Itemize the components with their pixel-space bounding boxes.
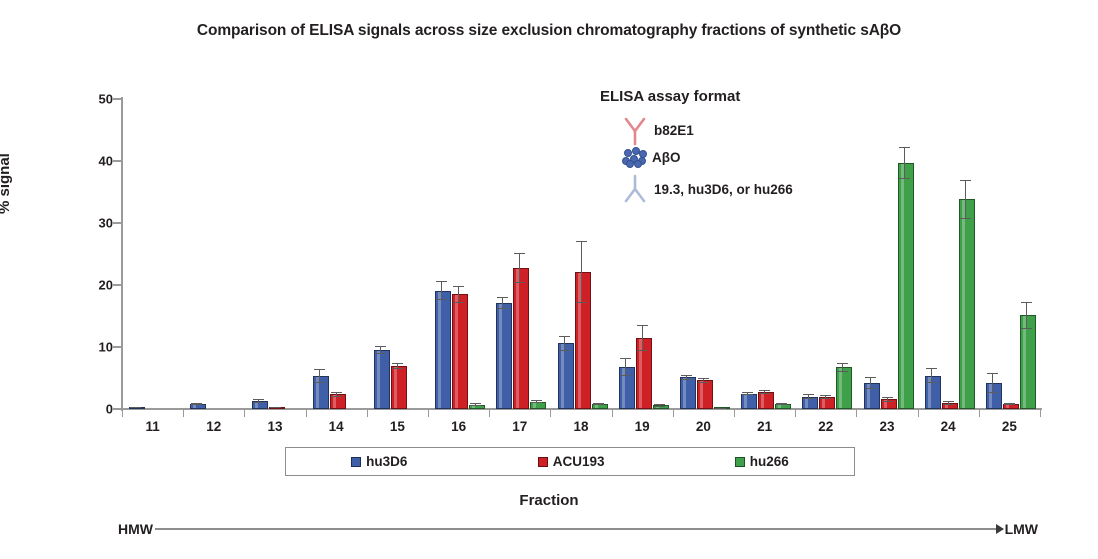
error-bar-acu193-18 (576, 241, 587, 303)
error-bar-cap-bottom (776, 404, 787, 405)
x-axis-tick (1040, 410, 1041, 417)
x-axis-label-18: 18 (551, 419, 611, 434)
error-bar-hu266-20 (715, 408, 726, 409)
legend-entry-hu266: hu266 (735, 454, 789, 469)
error-bar-cap-bottom (820, 398, 831, 399)
legend-entry-hu3d6: hu3D6 (351, 454, 407, 469)
error-bar-cap-bottom (987, 392, 998, 393)
error-bar-acu193-16 (453, 286, 464, 303)
bar-sheen (700, 381, 703, 408)
x-axis-label-23: 23 (857, 419, 917, 434)
error-bar-stem (931, 368, 932, 383)
error-bar-cap-top (742, 392, 753, 393)
error-bar-cap-bottom (1004, 404, 1015, 405)
error-bar-hu3d6-12 (191, 403, 202, 405)
y-axis-tick (113, 160, 122, 162)
bar-group (313, 99, 364, 409)
bar-hu266-25 (1020, 315, 1036, 409)
bar-sheen (533, 403, 536, 408)
error-bar-hu3d6-13 (253, 399, 264, 403)
error-bar-hu266-24 (960, 180, 971, 220)
bar-group (129, 99, 180, 409)
error-bar-hu3d6-19 (620, 358, 631, 377)
bar-sheen (472, 406, 475, 408)
error-bar-hu266-19 (654, 404, 665, 406)
error-bar-stem (441, 281, 442, 300)
bar-hu3d6-17 (496, 303, 512, 409)
bar-sheen (1006, 405, 1009, 408)
error-bar-cap-bottom (514, 282, 525, 283)
error-bar-cap-bottom (593, 404, 604, 405)
assay-detect-label: 19.3, hu3D6, or hu266 (654, 182, 793, 197)
error-bar-hu266-25 (1021, 302, 1032, 329)
error-bar-hu266-22 (837, 363, 848, 373)
error-bar-cap-bottom (715, 408, 726, 409)
y-axis-tick (113, 408, 122, 410)
x-axis-label-22: 22 (796, 419, 856, 434)
error-bar-cap-top (253, 399, 264, 400)
bar-sheen (1023, 316, 1026, 408)
error-bar-cap-bottom (637, 350, 648, 351)
error-bar-cap-bottom (559, 350, 570, 351)
x-axis-label-25: 25 (979, 419, 1039, 434)
y-axis-tick (113, 222, 122, 224)
error-bar-cap-top (865, 377, 876, 378)
y-axis-tick-label: 40 (43, 154, 113, 169)
assay-format-title: ELISA assay format (600, 88, 740, 105)
error-bar-cap-bottom (436, 299, 447, 300)
bar-acu193-21 (758, 392, 774, 409)
error-bar-cap-top (436, 281, 447, 282)
arrow-right-icon (996, 524, 1004, 534)
error-bar-hu266-17 (531, 400, 542, 402)
error-bar-cap-top (1021, 302, 1032, 303)
y-axis-tick (113, 284, 122, 286)
x-axis-label-11: 11 (123, 419, 183, 434)
bar-sheen (561, 344, 564, 408)
x-axis-label-15: 15 (367, 419, 427, 434)
x-axis-tick (734, 410, 735, 417)
bar-acu193-16 (452, 294, 468, 409)
error-bar-cap-top (559, 336, 570, 337)
x-axis-tick (673, 410, 674, 417)
error-bar-cap-top (514, 253, 525, 254)
bar-sheen (394, 367, 397, 408)
error-bar-cap-bottom (759, 393, 770, 394)
error-bar-cap-top (960, 180, 971, 181)
y-axis-tick (113, 98, 122, 100)
error-bar-cap-bottom (620, 375, 631, 376)
error-bar-acu193-17 (514, 253, 525, 283)
x-axis-tick (795, 410, 796, 417)
error-bar-acu193-14 (331, 392, 342, 397)
y-axis-tick-label: 20 (43, 278, 113, 293)
error-bar-cap-bottom (803, 398, 814, 399)
x-axis-tick (918, 410, 919, 417)
x-axis-label-24: 24 (918, 419, 978, 434)
error-bar-cap-top (882, 397, 893, 398)
antibody-y-icon-capture (620, 114, 650, 146)
error-bar-stem (319, 369, 320, 383)
bar-hu266-22 (836, 367, 852, 409)
bar-hu3d6-15 (374, 350, 390, 409)
error-bar-cap-top (759, 390, 770, 391)
error-bar-cap-bottom (681, 379, 692, 380)
bar-hu3d6-16 (435, 291, 451, 409)
error-bar-cap-top (820, 395, 831, 396)
error-bar-cap-bottom (943, 404, 954, 405)
error-bar-cap-top (314, 369, 325, 370)
error-bar-cap-bottom (742, 394, 753, 395)
bar-acu193-15 (391, 366, 407, 409)
error-bar-cap-bottom (270, 407, 281, 408)
error-bar-stem (564, 336, 565, 351)
bar-group (986, 99, 1037, 409)
x-axis-tick (856, 410, 857, 417)
bar-sheen (377, 351, 380, 408)
bar-sheen (438, 292, 441, 408)
error-bar-cap-top (453, 286, 464, 287)
bar-sheen (822, 398, 825, 408)
error-bar-cap-top (497, 297, 508, 298)
y-axis-tick-label: 0 (43, 402, 113, 417)
error-bar-stem (965, 180, 966, 220)
error-bar-acu193-20 (698, 378, 709, 383)
x-axis-tick (122, 410, 123, 417)
y-axis-tick-label: 30 (43, 216, 113, 231)
error-bar-cap-bottom (314, 382, 325, 383)
error-bar-cap-top (576, 241, 587, 242)
x-axis-label-20: 20 (673, 419, 733, 434)
bar-group (435, 99, 486, 409)
error-bar-cap-bottom (698, 382, 709, 383)
bar-hu266-24 (959, 199, 975, 409)
y-axis-title: % signal (0, 153, 13, 214)
error-bar-stem (625, 358, 626, 377)
x-axis-label-21: 21 (735, 419, 795, 434)
bar-sheen (683, 378, 686, 408)
x-axis-tick (489, 410, 490, 417)
bar-sheen (656, 406, 659, 408)
error-bar-cap-bottom (576, 302, 587, 303)
lmw-label: LMW (1005, 521, 1038, 537)
x-axis-label-14: 14 (306, 419, 366, 434)
bar-group (496, 99, 547, 409)
error-bar-hu3d6-11 (130, 407, 141, 408)
chart-legend: hu3D6ACU193hu266 (285, 447, 855, 476)
legend-label: ACU193 (553, 454, 605, 469)
error-bar-cap-top (698, 378, 709, 379)
error-bar-acu193-22 (820, 395, 831, 399)
bar-sheen (744, 395, 747, 409)
bar-sheen (805, 398, 808, 408)
bar-sheen (761, 393, 764, 408)
error-bar-acu193-24 (943, 401, 954, 405)
legend-swatch-acu193 (538, 457, 548, 467)
error-bar-hu266-21 (776, 403, 787, 405)
x-axis-label-13: 13 (245, 419, 305, 434)
bar-sheen (499, 304, 502, 408)
bar-sheen (778, 405, 781, 408)
error-bar-acu193-19 (637, 325, 648, 351)
assay-analyte-row: AβO (622, 146, 681, 168)
x-axis-label-17: 17 (490, 419, 550, 434)
y-axis-tick-label: 10 (43, 340, 113, 355)
error-bar-acu193-21 (759, 390, 770, 394)
bar-sheen (333, 395, 336, 408)
x-axis-title: Fraction (0, 492, 1098, 509)
error-bar-cap-bottom (253, 402, 264, 403)
error-bar-stem (519, 253, 520, 283)
x-axis-label-16: 16 (429, 419, 489, 434)
error-bar-hu3d6-24 (926, 368, 937, 383)
bar-group (925, 99, 976, 409)
x-axis-tick (550, 410, 551, 417)
bar-sheen (595, 405, 598, 408)
error-bar-stem (642, 325, 643, 351)
legend-label: hu3D6 (366, 454, 407, 469)
error-bar-cap-bottom (1021, 328, 1032, 329)
x-axis-tick (244, 410, 245, 417)
x-axis-tick (306, 410, 307, 417)
legend-swatch-hu3d6 (351, 457, 361, 467)
error-bar-hu3d6-16 (436, 281, 447, 300)
assay-detect-row: 19.3, hu3D6, or hu266 (620, 172, 793, 206)
error-bar-cap-bottom (926, 382, 937, 383)
error-bar-cap-bottom (960, 218, 971, 219)
bar-hu3d6-20 (680, 377, 696, 409)
error-bar-cap-top (837, 363, 848, 364)
error-bar-cap-top (987, 373, 998, 374)
x-axis-tick (979, 410, 980, 417)
bar-acu193-17 (513, 268, 529, 409)
error-bar-hu266-16 (470, 403, 481, 405)
error-bar-cap-bottom (453, 302, 464, 303)
error-bar-acu193-23 (882, 397, 893, 402)
assay-analyte-label: AβO (652, 150, 681, 165)
bar-hu3d6-18 (558, 343, 574, 409)
error-bar-hu3d6-15 (375, 346, 386, 353)
bar-group (374, 99, 425, 409)
mw-arrow-line (155, 528, 1003, 530)
legend-entry-acu193: ACU193 (538, 454, 605, 469)
assay-capture-label: b82E1 (654, 123, 694, 138)
bar-sheen (839, 368, 842, 408)
bar-group (252, 99, 303, 409)
page-title: Comparison of ELISA signals across size … (0, 22, 1098, 40)
hmw-label: HMW (118, 521, 153, 537)
bar-sheen (193, 405, 196, 408)
error-bar-hu3d6-14 (314, 369, 325, 383)
error-bar-hu3d6-20 (681, 375, 692, 380)
bar-sheen (516, 269, 519, 408)
error-bar-cap-bottom (130, 407, 141, 408)
x-axis-tick (612, 410, 613, 417)
error-bar-acu193-15 (392, 363, 403, 369)
error-bar-cap-bottom (497, 308, 508, 309)
error-bar-cap-top (803, 394, 814, 395)
error-bar-cap-bottom (531, 402, 542, 403)
error-bar-cap-top (392, 363, 403, 364)
error-bar-cap-bottom (392, 368, 403, 369)
molecular-weight-axis: HMW LMW (118, 519, 1038, 539)
error-bar-cap-top (637, 325, 648, 326)
bar-sheen (962, 200, 965, 408)
error-bar-cap-bottom (837, 371, 848, 372)
error-bar-cap-top (943, 401, 954, 402)
error-bar-stem (581, 241, 582, 303)
error-bar-cap-top (620, 358, 631, 359)
error-bar-hu3d6-25 (987, 373, 998, 393)
error-bar-stem (1026, 302, 1027, 329)
error-bar-hu3d6-23 (865, 377, 876, 389)
error-bar-stem (992, 373, 993, 393)
assay-format-annotation: ELISA assay format b82E1 AβO (584, 88, 914, 228)
error-bar-cap-bottom (654, 406, 665, 407)
x-axis-label-19: 19 (612, 419, 672, 434)
x-axis-tick (428, 410, 429, 417)
antibody-y-icon-detect (620, 172, 650, 206)
error-bar-cap-bottom (470, 405, 481, 406)
error-bar-hu3d6-22 (803, 394, 814, 399)
bar-sheen (455, 295, 458, 408)
error-bar-hu266-18 (593, 403, 604, 405)
error-bar-hu3d6-17 (497, 297, 508, 308)
bar-acu193-20 (697, 380, 713, 409)
error-bar-cap-top (926, 368, 937, 369)
error-bar-cap-top (375, 346, 386, 347)
error-bar-acu193-25 (1004, 403, 1015, 405)
error-bar-cap-bottom (375, 353, 386, 354)
error-bar-cap-bottom (882, 401, 893, 402)
error-bar-acu193-13 (270, 407, 281, 408)
error-bar-cap-bottom (865, 388, 876, 389)
y-axis-tick-label: 50 (43, 92, 113, 107)
legend-swatch-hu266 (735, 457, 745, 467)
bar-hu3d6-21 (741, 394, 757, 410)
error-bar-cap-top (681, 375, 692, 376)
error-bar-cap-top (331, 392, 342, 393)
abeta-oligomer-icon (622, 146, 648, 168)
error-bar-cap-bottom (191, 404, 202, 405)
legend-label: hu266 (750, 454, 789, 469)
y-axis-tick (113, 346, 122, 348)
error-bar-hu3d6-21 (742, 392, 753, 396)
error-bar-stem (458, 286, 459, 303)
x-axis-label-12: 12 (184, 419, 244, 434)
bar-group (190, 99, 241, 409)
x-axis-tick (183, 410, 184, 417)
error-bar-hu3d6-18 (559, 336, 570, 351)
error-bar-cap-bottom (331, 396, 342, 397)
figure-root: Comparison of ELISA signals across size … (0, 0, 1098, 559)
bar-sheen (255, 402, 258, 408)
x-axis-tick (367, 410, 368, 417)
assay-capture-row: b82E1 (620, 114, 694, 146)
